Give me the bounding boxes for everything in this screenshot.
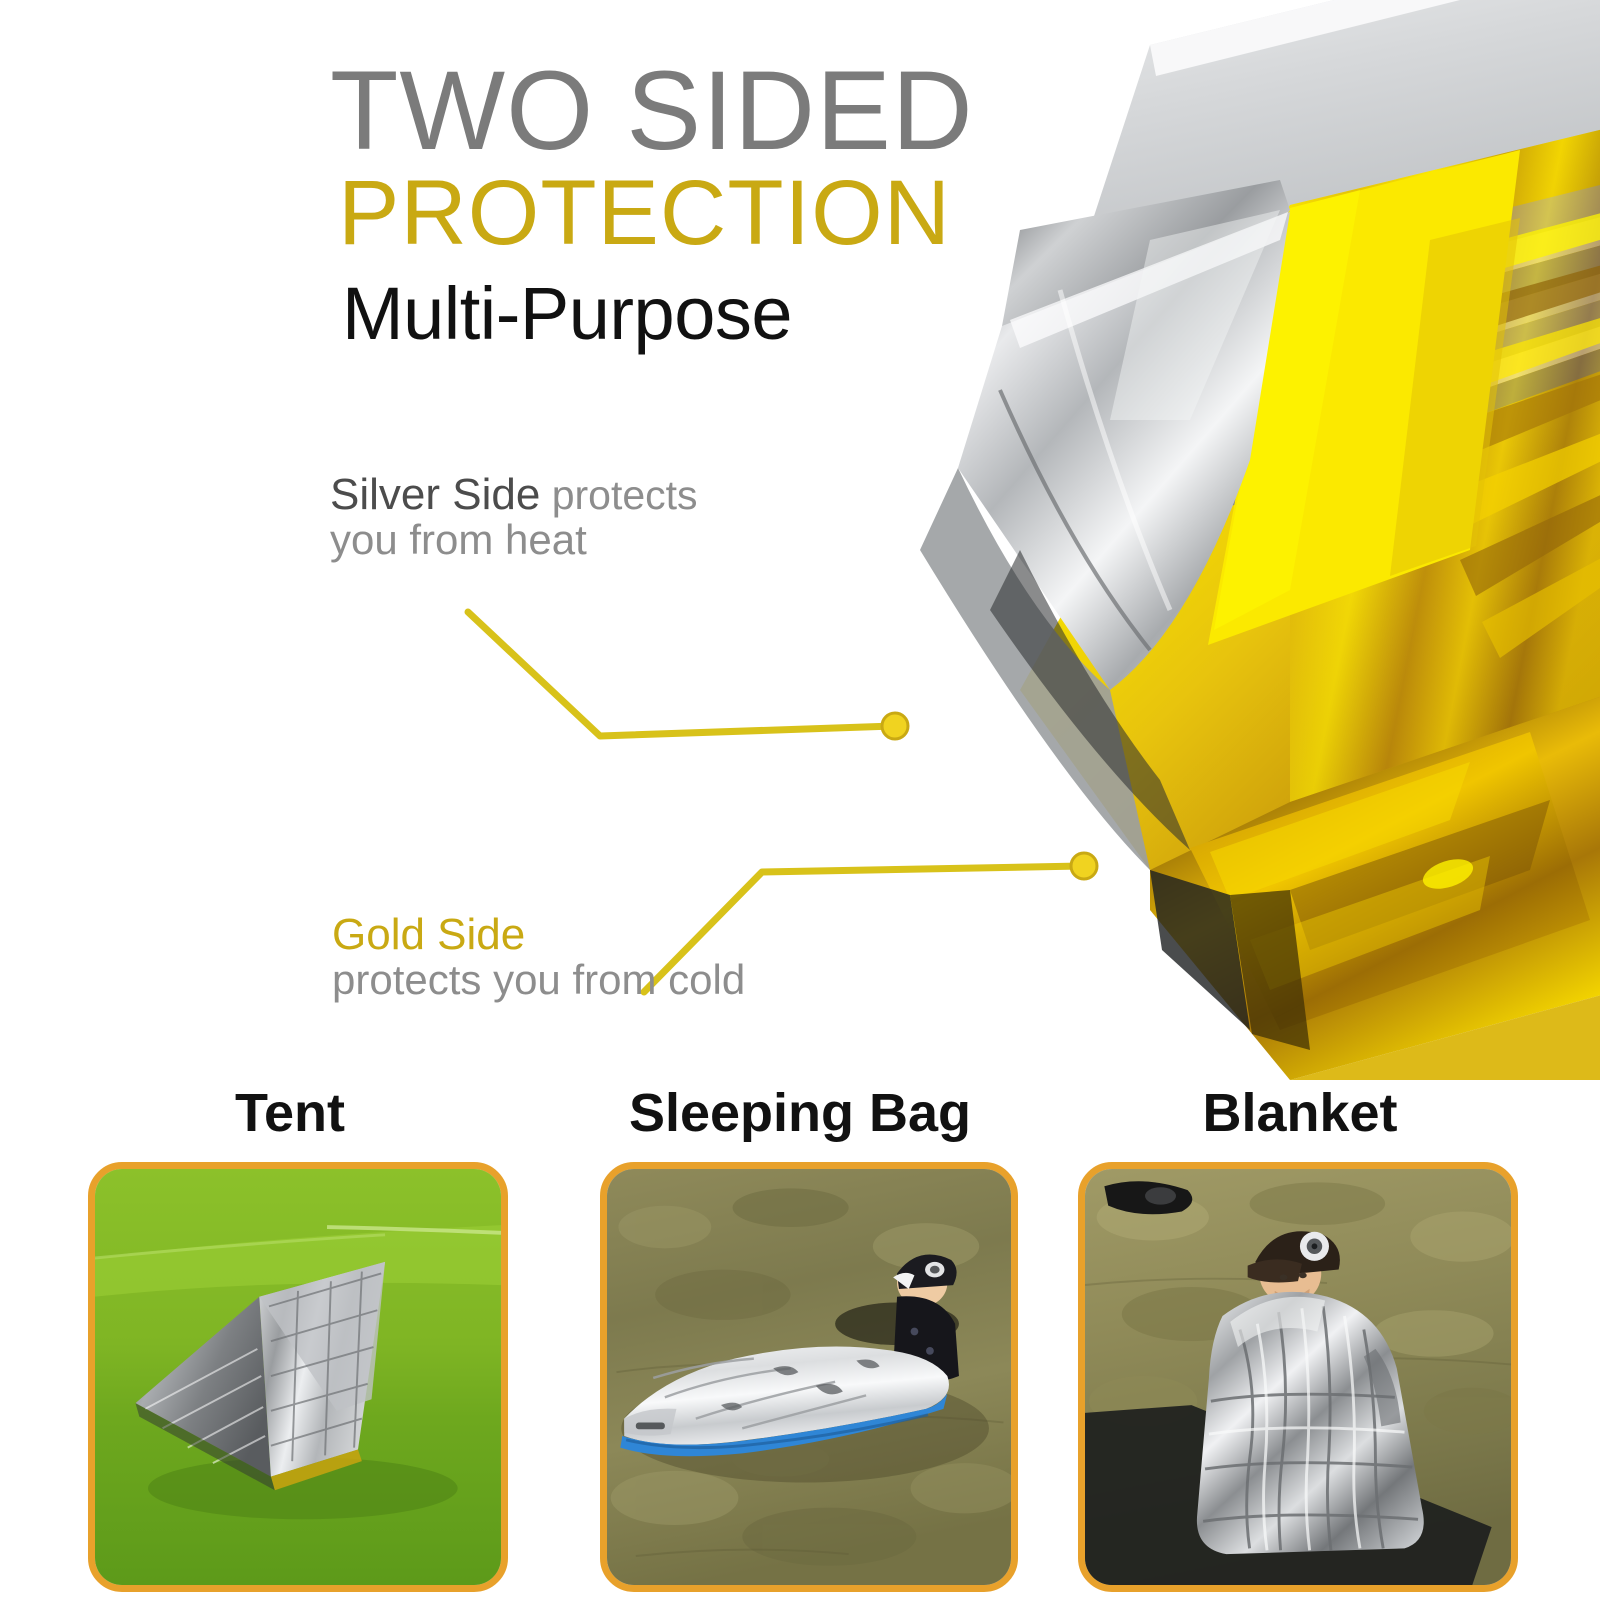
annotation-silver-line1: Silver Side protects bbox=[330, 472, 800, 518]
use-case-label-blanket: Blanket bbox=[1075, 1082, 1525, 1144]
use-case-label-sleeping-bag: Sleeping Bag bbox=[565, 1082, 1035, 1144]
title-line-multi-purpose: Multi-Purpose bbox=[342, 277, 1090, 351]
title-line-protection: PROTECTION bbox=[338, 167, 1090, 259]
blanket-illustration bbox=[1085, 1169, 1511, 1585]
use-case-thumb-sleeping-bag bbox=[600, 1162, 1018, 1592]
annotation-silver-side: Silver Side protects you from heat bbox=[330, 472, 800, 561]
headline-block: TWO SIDED PROTECTION Multi-Purpose bbox=[330, 58, 1090, 351]
annotation-gold-line1: Gold Side bbox=[332, 912, 852, 958]
sleeping-bag-illustration bbox=[607, 1169, 1011, 1585]
annotation-gold-line2: protects you from cold bbox=[332, 958, 852, 1002]
annotation-silver-strong: Silver Side bbox=[330, 470, 540, 519]
use-cases-row: Tent Sleeping Bag Blanket bbox=[0, 1072, 1600, 1600]
title-line-two-sided: TWO SIDED bbox=[330, 58, 1090, 163]
infographic-canvas: TWO SIDED PROTECTION Multi-Purpose Silve… bbox=[0, 0, 1600, 1600]
annotation-silver-rest: protects bbox=[540, 472, 697, 518]
tent-illustration bbox=[95, 1169, 501, 1585]
annotation-gold-strong: Gold Side bbox=[332, 910, 525, 959]
annotation-gold-side: Gold Side protects you from cold bbox=[332, 912, 852, 1001]
annotation-silver-line2: you from heat bbox=[330, 518, 800, 562]
use-case-label-tent: Tent bbox=[80, 1082, 500, 1144]
use-case-thumb-tent bbox=[88, 1162, 508, 1592]
use-case-thumb-blanket bbox=[1078, 1162, 1518, 1592]
